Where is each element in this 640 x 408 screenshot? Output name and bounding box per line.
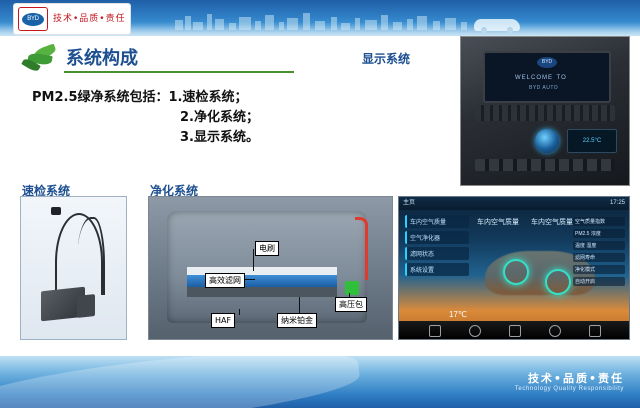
- welcome-word: WELCOME: [515, 75, 553, 81]
- body-line-2: 2.净化系统；: [180, 108, 362, 128]
- callout-high-voltage-pack: 高压包: [335, 297, 367, 312]
- hmi-tab-list[interactable]: 车内空气质量 空气净化器 滤网状态 系统设置: [405, 215, 469, 279]
- hmi-info-list: 空气质量指数 PM2.5 浓度 温度 湿度 滤网寿命 净化模式 自动开启: [573, 217, 625, 289]
- hmi-clock: 17:25: [610, 197, 625, 210]
- photo-purification-module: 电刷 高效滤网 HAF 纳米铂金 高压包: [148, 196, 393, 340]
- hmi-nav-bar[interactable]: [399, 321, 629, 339]
- photo-speed-detect-sensor: [20, 196, 127, 340]
- hmi-home-icon[interactable]: [469, 325, 481, 337]
- top-banner: BYD 技术•品质•责任: [0, 0, 640, 36]
- body-line-1: PM2.5绿净系统包括：1.速检系统；: [32, 88, 362, 108]
- hmi-info-4: 净化模式: [573, 265, 625, 274]
- callout-haf: HAF: [211, 313, 235, 328]
- title-underline: [64, 71, 294, 73]
- photo-display-system-hmi: 主页 17:25 车内空气质量 空气净化器 滤网状态 系统设置 车内空气质量 车…: [398, 196, 630, 340]
- head-unit-screen: BYD WELCOME TO BYD AUTO: [483, 51, 611, 103]
- body-text: PM2.5绿净系统包括：1.速检系统； 2.净化系统； 3.显示系统。: [32, 88, 362, 148]
- callout-line-namibojin: [299, 297, 300, 313]
- hmi-air-ring-front: [503, 259, 529, 285]
- callout-gaoxiao-filter: 高效滤网: [205, 273, 245, 288]
- hmi-info-3: 滤网寿命: [573, 253, 625, 262]
- byd-logo: BYD 技术•品质•责任: [14, 4, 130, 34]
- sensor-connector: [51, 207, 61, 215]
- welcome-to-word: TO: [557, 75, 567, 81]
- hmi-tab-3[interactable]: 系统设置: [405, 263, 469, 276]
- section-title-row: 系统构成: [18, 44, 318, 74]
- callout-nano-platinum: 纳米铂金: [277, 313, 317, 328]
- screen-logo-oval: BYD: [537, 57, 557, 68]
- hmi-center-title-0: 车内空气质量: [477, 219, 519, 226]
- hmi-tab-2[interactable]: 滤网状态: [405, 247, 469, 260]
- green-connector: [345, 281, 359, 295]
- hmi-home-label: 主页: [403, 197, 415, 210]
- hmi-tab-0[interactable]: 车内空气质量: [405, 215, 469, 228]
- hmi-status-bar: 主页 17:25: [399, 197, 629, 210]
- sensor-body-side: [77, 294, 95, 318]
- hmi-center-titles: 车内空气质量 车内空气质量: [477, 217, 583, 227]
- red-tube: [355, 217, 368, 280]
- hmi-info-5: 自动开启: [573, 277, 625, 286]
- button-row: [475, 159, 615, 171]
- footer-slogan-cn: 技术•品质•责任: [528, 370, 624, 386]
- slide-root: BYD 技术•品质•责任 系统构成 PM2.5绿净系统包括：1.速检系统； 2.…: [0, 0, 640, 408]
- callout-dianshua: 电刷: [255, 241, 279, 256]
- screen-welcome-text: WELCOME TO: [515, 71, 567, 81]
- hmi-settings-icon[interactable]: [589, 325, 601, 337]
- hmi-air-ring-rear: [545, 269, 571, 295]
- leaf-icon: [22, 46, 62, 70]
- footer-slogan-en: Technology Quality Responsibility: [515, 386, 624, 392]
- logo-oval-text: BYD: [22, 13, 44, 26]
- hmi-apps-icon[interactable]: [549, 325, 561, 337]
- callout-line-dianshua: [253, 249, 254, 271]
- page-title: 系统构成: [66, 44, 138, 70]
- body-line-3: 3.显示系统。: [180, 128, 362, 148]
- label-display-system: 显示系统: [362, 50, 410, 67]
- hmi-info-0: 空气质量指数: [573, 217, 625, 226]
- hmi-menu-icon[interactable]: [509, 325, 521, 337]
- hmi-center-title-1: 车内空气质量: [531, 219, 573, 226]
- screen-brand-subtext: BYD AUTO: [529, 85, 558, 91]
- filter-layer-grey: [187, 287, 337, 297]
- bottom-banner: 技术•品质•责任 Technology Quality Responsibili…: [0, 356, 640, 408]
- sensor-cable-2: [77, 217, 105, 295]
- logo-badge: BYD: [18, 7, 48, 31]
- hmi-back-icon[interactable]: [429, 325, 441, 337]
- hmi-tab-1[interactable]: 空气净化器: [405, 231, 469, 244]
- hmi-temperature: 17℃: [449, 310, 467, 319]
- hmi-info-1: PM2.5 浓度: [573, 229, 625, 238]
- ac-display-panel: 22.5°C: [567, 129, 617, 153]
- dashboard-vent: [475, 105, 615, 121]
- center-knob: [535, 129, 559, 153]
- logo-slogan: 技术•品质•责任: [53, 14, 126, 24]
- hmi-info-2: 温度 湿度: [573, 241, 625, 250]
- photo-car-interior: BYD WELCOME TO BYD AUTO 22.5°C: [460, 36, 630, 186]
- callout-line-haf: [239, 309, 240, 315]
